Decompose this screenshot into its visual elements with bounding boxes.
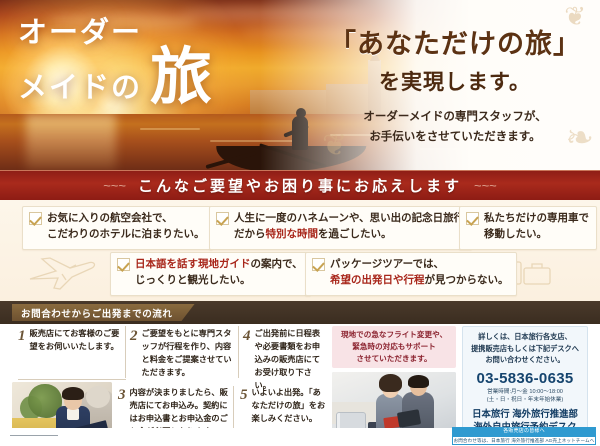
- process-header-bar: お問合わせからご出発までの流れ: [0, 301, 600, 324]
- step-divider: [18, 379, 126, 380]
- request-line1-emphasis: 日本語を話す現地ガイド: [135, 259, 251, 270]
- man-hair: [408, 375, 429, 388]
- process-step: 4 ご出発前に日程表や必要書類をお申込みの販売店にてお受け取り下さい。: [243, 328, 325, 393]
- request-item: 私たちだけの専用車で 移動したい。: [459, 206, 597, 250]
- support-line3: させていただきます。: [356, 354, 431, 363]
- support-line2: 緊急時の対応もサポート: [352, 342, 436, 351]
- step-number: 2: [130, 329, 138, 380]
- woman-hair: [379, 374, 402, 392]
- hero-headline-group: 「あなただけの旅」 を実現します。 オーダーメイドの専門スタッフが、 お手伝いを…: [324, 22, 586, 147]
- contact-hours-line1: 営業時間:月〜金 10:00〜18:00: [463, 388, 587, 396]
- request-item: 日本語を話す現地ガイドの案内で、 じっくりと観光したい。: [110, 252, 311, 296]
- banner-ornament-right: ~~~: [474, 178, 497, 193]
- contact-lead-line2: 提携販売店もしくは下記デスクへ: [463, 344, 587, 356]
- request-item: パッケージツアーでは、 希望の出発日や行程が見つからない。: [305, 252, 517, 296]
- banner-title: こんなご要望やお困り事にお応えします: [138, 175, 462, 196]
- step-number: 5: [240, 388, 248, 426]
- dealer-notice-block[interactable]: 各販売店の皆様へ お問合わせ等は、日本旅行 海外旅行推進部 AG売上ネットチーム…: [452, 427, 596, 445]
- step-text: ご要望をもとに専門スタッフが行程を作り、内容と料金をご提案させていただきます。: [142, 328, 235, 380]
- check-icon: [312, 258, 325, 271]
- airplane-icon: [26, 254, 100, 292]
- footer-rule: [10, 435, 58, 436]
- banner-ornament-left: ~~~: [103, 178, 126, 193]
- water-reflection: [140, 128, 200, 130]
- staff-hair: [62, 387, 84, 400]
- check-icon: [216, 212, 229, 225]
- request-line2-emphasis: 希望の出発日や行程: [330, 275, 425, 286]
- hero-title-line2: メイドの: [18, 73, 142, 103]
- contact-hours-line2: (土・日・祝日・年末年始休業): [463, 396, 587, 404]
- step-text: 販売店にてお客様のご要望をお伺いいたします。: [30, 328, 127, 354]
- process-step: 5 いよいよ出発。「あなただけの旅」をお楽しみください。: [240, 387, 326, 426]
- process-step: 2 ご要望をもとに専門スタッフが行程を作り、内容と料金をご提案させていただきます…: [130, 328, 234, 380]
- contact-lead-line3: お問い合わせください。: [463, 355, 587, 367]
- dealer-notice-detail[interactable]: お問合わせ等は、日本旅行 海外旅行推進部 AG売上ネットチームへ: [452, 436, 596, 446]
- check-icon: [466, 212, 479, 225]
- request-line2-post: を過ごしたい。: [318, 229, 392, 240]
- request-line2-post: が見つからない。: [425, 275, 509, 286]
- request-line1: パッケージツアーでは、: [330, 259, 444, 270]
- emergency-support-note: 現地での急なフライト変更や、 緊急時の対応もサポート させていただきます。: [332, 326, 456, 368]
- contact-org-line1: 日本旅行 海外旅行推進部: [463, 408, 587, 421]
- process-header-label: お問合わせからご出発までの流れ: [21, 306, 173, 320]
- requests-section: お気に入りの航空会社で、 こだわりのホテルに泊まりたい。 人生に一度のハネムーン…: [0, 200, 600, 301]
- process-flow-section: お問合わせからご出発までの流れ 1 販売店にてお客様のご要望をお伺いいたします。…: [0, 301, 600, 446]
- process-header-tab: お問合わせからご出発までの流れ: [12, 304, 195, 321]
- hero-paragraph-line1: オーダーメイドの専門スタッフが、: [324, 107, 586, 127]
- process-step: 1 販売店にてお客様のご要望をお伺いいたします。: [18, 328, 126, 354]
- contact-panel[interactable]: 詳しくは、日本旅行各支店、 提携販売店もしくは下記デスクへ お問い合わせください…: [462, 326, 588, 432]
- hero-title: オーダー メイドの 旅: [18, 18, 212, 103]
- advertisement-page: オーダー メイドの 旅 ❦ ❧ ❦ 「あなただけの旅」 を実現します。 オーダー…: [0, 0, 600, 446]
- hero-paragraph-line2: お手伝いをさせていただきます。: [324, 127, 586, 147]
- hero-headline-main: 「あなただけの旅」: [324, 22, 586, 61]
- hero-section: オーダー メイドの 旅 ❦ ❧ ❦ 「あなただけの旅」 を実現します。 オーダー…: [0, 0, 600, 170]
- footer-section: 各販売店の皆様へ お問合わせ等は、日本旅行 海外旅行推進部 AG売上ネットチーム…: [0, 428, 600, 446]
- hero-headline-sub: を実現します。: [324, 66, 586, 96]
- request-line1: お気に入りの航空会社で、: [47, 213, 173, 224]
- step-divider: [238, 326, 239, 378]
- request-line1: 人生に一度のハネムーンや、思い出の記念日旅行: [234, 213, 464, 224]
- check-icon: [29, 212, 42, 225]
- request-item: 人生に一度のハネムーンや、思い出の記念日旅行 だから特別な時間を過ごしたい。: [209, 206, 472, 250]
- dealer-notice-title[interactable]: 各販売店の皆様へ: [452, 427, 596, 436]
- hero-title-big-char: 旅: [150, 50, 212, 107]
- step-number: 1: [18, 329, 26, 354]
- request-line1: 私たちだけの専用車で: [484, 213, 589, 224]
- support-line1: 現地での急なフライト変更や、: [341, 330, 447, 339]
- request-line2-pre: だから: [234, 229, 266, 240]
- request-line2-emphasis: 特別な時間: [266, 229, 319, 240]
- step-number: 4: [243, 329, 251, 393]
- section-banner: ~~~ こんなご要望やお困り事にお応えします ~~~: [0, 170, 600, 200]
- request-line2: 移動したい。: [484, 229, 547, 240]
- contact-lead-line1: 詳しくは、日本旅行各支店、: [463, 332, 587, 344]
- contact-phone-number[interactable]: 03-5836-0635: [463, 370, 587, 387]
- customer-head: [86, 386, 110, 408]
- step-text: いよいよ出発。「あなただけの旅」をお楽しみください。: [252, 387, 327, 426]
- request-item: お気に入りの航空会社で、 こだわりのホテルに泊まりたい。: [22, 206, 213, 250]
- request-line1-post: の案内で、: [251, 259, 303, 270]
- step-text: ご出発前に日程表や必要書類をお申込みの販売店にてお受け取り下さい。: [255, 328, 326, 393]
- check-icon: [117, 258, 130, 271]
- request-line2: じっくりと観光したい。: [135, 275, 251, 286]
- request-line2: こだわりのホテルに泊まりたい。: [47, 229, 205, 240]
